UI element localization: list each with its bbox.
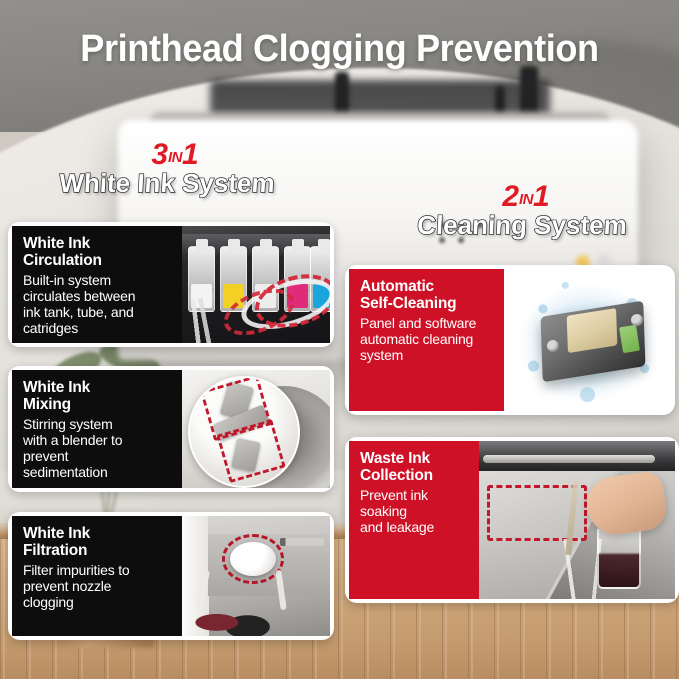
section-title-white-ink-system: White Ink System xyxy=(11,170,322,197)
badge-3-in-1: 3IN1 xyxy=(28,140,322,170)
photo-printhead-water-splash xyxy=(504,269,671,411)
section-header-cleaning-system: 2IN1 Cleaning System xyxy=(372,182,672,239)
card-body: Prevent ink soaking and leakage xyxy=(360,488,471,536)
card-body: Built-in system circulates between ink t… xyxy=(23,273,174,337)
badge-in-label: IN xyxy=(168,149,182,166)
background-printer-knob-right xyxy=(520,66,538,118)
card-photo-waste-ink xyxy=(479,441,675,599)
feature-card-white-ink-circulation: White Ink Circulation Built-in system ci… xyxy=(8,222,334,347)
card-photo-filter xyxy=(182,516,330,636)
magnifier-inset xyxy=(188,376,300,488)
section-header-white-ink-system: 3IN1 White Ink System xyxy=(12,140,322,197)
badge-one: 1 xyxy=(533,180,550,213)
card-title: Waste Ink Collection xyxy=(360,451,471,484)
machine-vent xyxy=(280,538,324,546)
card-title: Automatic Self-Cleaning xyxy=(360,279,496,312)
highlight-dashed-circle xyxy=(222,534,284,584)
badge-number: 2 xyxy=(502,180,519,213)
card-title: White Ink Filtration xyxy=(23,526,174,559)
photo-blender-stirrer xyxy=(182,370,330,488)
card-text-panel: Automatic Self-Cleaning Panel and softwa… xyxy=(349,269,504,411)
feature-card-white-ink-mixing: White Ink Mixing Stirring system with a … xyxy=(8,366,334,492)
badge-2-in-1: 2IN1 xyxy=(380,182,672,212)
badge-in-label: IN xyxy=(519,191,533,208)
card-text-panel: White Ink Filtration Filter impurities t… xyxy=(12,516,182,636)
card-text-panel: White Ink Circulation Built-in system ci… xyxy=(12,226,182,343)
photo-ink-tank-circulation xyxy=(182,226,330,343)
card-body: Panel and software automatic cleaning sy… xyxy=(360,316,496,364)
waste-ink-beaker xyxy=(597,527,641,589)
page-title: Printhead Clogging Prevention xyxy=(17,28,662,71)
card-text-panel: Waste Ink Collection Prevent ink soaking… xyxy=(349,441,479,599)
card-photo-ink-tanks xyxy=(182,226,330,343)
section-title-cleaning-system: Cleaning System xyxy=(371,212,672,239)
card-body: Filter impurities to prevent nozzle clog… xyxy=(23,563,174,611)
feature-card-white-ink-filtration: White Ink Filtration Filter impurities t… xyxy=(8,512,334,640)
badge-number: 3 xyxy=(151,138,168,171)
card-title: White Ink Circulation xyxy=(23,236,174,269)
product-infographic: Printhead Clogging Prevention 3IN1 White… xyxy=(0,0,679,679)
feature-card-waste-ink-collection: Waste Ink Collection Prevent ink soaking… xyxy=(345,437,679,603)
feature-card-automatic-self-cleaning: Automatic Self-Cleaning Panel and softwa… xyxy=(345,265,675,415)
badge-one: 1 xyxy=(182,138,199,171)
card-photo-printhead xyxy=(504,269,671,411)
printhead-nozzle-plate xyxy=(567,308,618,353)
photo-ink-filter xyxy=(182,516,330,636)
internal-components xyxy=(188,596,284,636)
card-body: Stirring system with a blender to preven… xyxy=(23,417,174,481)
photo-waste-ink-split xyxy=(479,441,675,599)
card-photo-blender xyxy=(182,370,330,488)
card-title: White Ink Mixing xyxy=(23,380,174,413)
card-text-panel: White Ink Mixing Stirring system with a … xyxy=(12,370,182,488)
carriage-rod xyxy=(483,455,655,463)
